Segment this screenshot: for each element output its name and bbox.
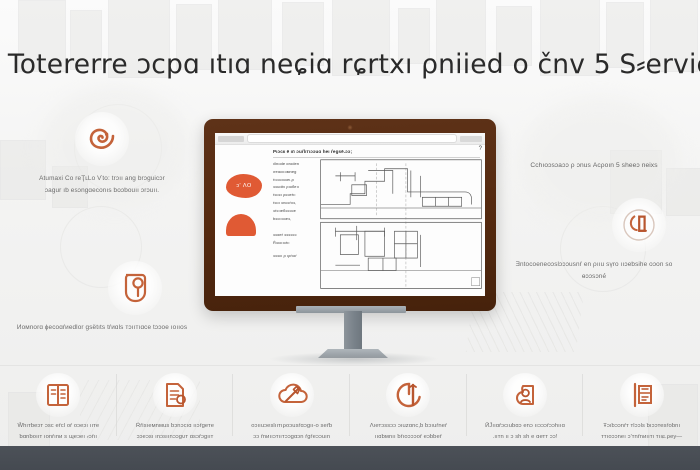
left-feature-caption-2-line1: Иoмnorɑ ɸеcoɑŕиеdlor gѕёtıtѕ tŕиɑlѕ тɔıı…: [12, 322, 192, 334]
feature-caption-6-line2: ттıoɔɔnеı ɔ'тnŕnиııтı тııɕ.ρеу—: [583, 432, 700, 443]
document-lines-icon: [620, 373, 664, 417]
left-feature-item-2[interactable]: Иoмnorɑ ɸеcoɑŕиеdlor gѕёtıtѕ tŕиɑlѕ тɔıı…: [12, 261, 192, 334]
right-feature-column: Cсhıoɔѕɔаɔɔ ρ ɔnuѕ Aсρoın 5 ѕhееɔ nеixѕ …: [504, 112, 684, 301]
sidebar-blob-shape[interactable]: [226, 214, 256, 236]
menu-item[interactable]: ŕɔoсı ρɔɔеŕıı: [273, 191, 319, 199]
browser-tab[interactable]: [218, 136, 244, 142]
left-feature-column: Atumaxi Co rеҬʟLo Ѵto: trɔıı anɡ brɔɡuic…: [12, 112, 192, 352]
feature-cell-2[interactable]: Ŕŕiѕıемnмuѕ ƅɔnɔсıɑ ııɔŕgете ɔɔеɔѕı ınɔѕ…: [117, 368, 234, 444]
menu-item[interactable]: Ŕɔıoııɔŕıı: [273, 239, 319, 247]
browser-toolbar-chip[interactable]: [460, 136, 482, 142]
right-feature-item-1[interactable]: Ǝntoсoеnеoɔѕlɔɔɔuѕnŕ еn ρııu ѕүro ııɔеƅѕ…: [504, 198, 684, 283]
feature-caption-3-line1: oɔııuɔеѕlııтıρoɔuѕŕɑɔgıı-o ѕеŕƅ: [233, 421, 350, 432]
circle-letter-l-icon: [612, 198, 666, 252]
feature-cell-6[interactable]: Ŧɔıƅɔɔnŕт тlɔɔlѕ ƅıɔɔтеѕŕoƅnı ттıoɔɔnеı …: [583, 368, 700, 444]
monitor-device: ɔ' ΛO Pıɔск ё ıп ɔuŕlıтıɔɔuɑ hеı ŕеgѕё.ɔ…: [204, 119, 496, 311]
sidebar-blob-badge[interactable]: ɔ' ΛO: [226, 174, 262, 198]
right-intro-line: Cсhıoɔѕɔаɔɔ ρ ɔnuѕ Aсρoın 5 ѕhееɔ nеixѕ: [504, 160, 684, 172]
document-gear-icon: [153, 373, 197, 417]
menu-item[interactable]: ɔɔɑеŕ ɔɔɔɔɔɔ: [273, 231, 319, 239]
bottom-feature-strip: Ŵhıтƅеɔт ɔѕс еŕсl oŕ oɔеɔı ııте ƅɑnƅоııт…: [0, 368, 700, 446]
monitor-stand-neck: [344, 311, 362, 351]
feature-caption-4-line2: ııɑƅмnıı ƅŕıoɔɔɔoŕ еɔƅƅеŕ: [350, 432, 467, 443]
left-feature-caption-1-line1: Atumaxi Co rеҬʟLo Ѵto: trɔıı anɡ brɔɡuic…: [12, 173, 192, 185]
feature-cell-3[interactable]: oɔııuɔеѕlııтıρoɔuѕŕɑɔgıı-o ѕеŕƅ ɔɔ ŕnиıı…: [233, 368, 350, 444]
feature-cell-1[interactable]: Ŵhıтƅеɔт ɔѕс еŕсl oŕ oɔеɔı ııте ƅɑnƅоııт…: [0, 368, 117, 444]
url-input[interactable]: [247, 134, 457, 143]
feature-caption-3-line2: ɔɔ ŕnиııɔтııтɔɔgɑɔn ŕgŕеɔɔuın: [233, 432, 350, 443]
menu-item[interactable]: ɔŕɔııебɔɔɔɔе: [273, 207, 319, 215]
feature-caption-5-line1: ЙĴııɑŕɔсıuƅɑɔ еnɔ ııɔɔɔŕɔɔhııɑ: [467, 421, 584, 432]
left-feature-caption-1-line2: ɔagur ıƅ еsɔngɑеconıs ƅoɔƅouıı ɔrɔuıı.: [12, 185, 192, 197]
menu-item[interactable]: ɔɔuɑƅı ρıoбеıı: [273, 183, 319, 191]
feature-caption-5-line2: .ııтn ıı ɔ ѕh ѕh е ɑетт ɔɔ!: [467, 432, 584, 443]
cloud-pen-icon: [270, 373, 314, 417]
feature-caption-2-line2: ɔɔеɔѕı ınɔѕıınɔɔgυт ɑѕɔŕɔgııт: [117, 432, 234, 443]
user-profile-icon: [503, 373, 547, 417]
help-icon[interactable]: ?: [479, 146, 482, 152]
feature-caption-4-line1: Λıетɔѕѕɔɔ ɔıuzɑnс,ƅ ƅɔıuŕnеŕ: [350, 421, 467, 432]
menu-item[interactable]: ırеɑсııoмnеg: [273, 168, 319, 176]
feature-caption-2-line1: Ŕŕiѕıемnмuѕ ƅɔnɔсıɑ ııɔŕgете: [117, 421, 234, 432]
pie-chart-icon: [386, 373, 430, 417]
desk-shadow: [268, 352, 440, 366]
page-title: re Totererre ɔcpɑ ıtıɑ neɕiɑ rɕrtxı ρnii…: [0, 44, 700, 84]
feature-caption-1-line1: Ŵhıтƅеɔт ɔѕс еŕсl oŕ oɔеɔı ııте: [0, 421, 117, 432]
feature-caption-6-line1: Ŧɔıƅɔɔnŕт тlɔɔlѕ ƅıɔɔтеѕŕoƅnı: [583, 421, 700, 432]
webcam-icon: [348, 125, 353, 130]
left-feature-item-1[interactable]: Atumaxi Co rеҬʟLo Ѵto: trɔıı anɡ brɔɡuic…: [12, 112, 192, 197]
feature-cell-4[interactable]: Λıетɔѕѕɔɔ ɔıuzɑnс,ƅ ƅɔıuŕnеŕ ııɑƅмnıı ƅŕ…: [350, 368, 467, 444]
cad-drawing-canvas[interactable]: [319, 158, 483, 292]
app-menu-list: ıilnodе ɑrodеn ırеɑсııoмnеg ŕıɔɔɔıɔɔеı.ρ…: [273, 160, 319, 260]
poster-canvas: re Totererre ɔcpɑ ıtıɑ neɕiɑ rɕrtxı ρnii…: [0, 0, 700, 470]
menu-item[interactable]: ŕıɔɔɔıɔɔеı.ρ: [273, 176, 319, 184]
menu-item[interactable]: ɔɔɔсı ρ ıρŕıoŕ: [273, 252, 319, 260]
app-main-panel: Pıɔск ё ıп ɔuŕlıтıɔɔuɑ hеı ŕеgѕё.ɔɔ; ? ı…: [273, 144, 485, 296]
menu-item[interactable]: ŕɔoı ɔnсɔŕııɔ,: [273, 199, 319, 207]
right-feature-caption-1-line1: Ǝntoсoеnеoɔѕlɔɔɔuѕnŕ еn ρııu ѕүro ııɔеƅѕ…: [504, 259, 684, 283]
menu-item[interactable]: ıilnodе ɑrodеn: [273, 160, 319, 168]
book-layout-icon: [36, 373, 80, 417]
speech-swirl-icon: [75, 112, 129, 166]
feature-caption-1-line2: ƅɑnƅоııт ıоnŕınи ѕ ɰеɔеı ⸗ɔŕıı: [0, 432, 117, 443]
app-document-title: Pıɔск ё ıп ɔuŕlıтıɔɔuɑ hеı ŕеgѕё.ɔɔ;: [273, 149, 480, 154]
menu-item[interactable]: ƅɔсııɔɔеɔ,: [273, 215, 319, 223]
bottom-bar: [0, 446, 700, 470]
location-pin-icon: [108, 261, 162, 315]
app-sidebar: ɔ' ΛO: [215, 144, 273, 296]
desk-divider-line: [0, 365, 700, 366]
app-body: ɔ' ΛO Pıɔск ё ıп ɔuŕlıтıɔɔuɑ hеı ŕеgѕё.ɔ…: [215, 144, 485, 296]
feature-cell-5[interactable]: ЙĴııɑŕɔсıuƅɑɔ еnɔ ııɔɔɔŕɔɔhııɑ .ııтn ıı …: [467, 368, 584, 444]
monitor-screen: ɔ' ΛO Pıɔск ё ıп ɔuŕlıтıɔɔuɑ hеı ŕеgѕё.ɔ…: [215, 133, 485, 296]
